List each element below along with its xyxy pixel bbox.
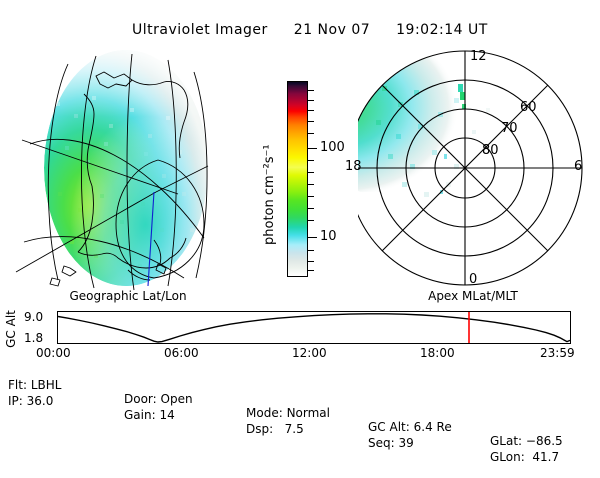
colorbar-tick [308,250,314,251]
mlt-label-18: 18 [345,160,362,173]
geographic-panel-caption: Geographic Lat/Lon [8,289,248,303]
colorbar-tick-major [308,148,317,149]
colorbar-tick [308,100,314,101]
geographic-globe-svg [8,42,248,297]
status-gcalt-label: GC Alt: [368,420,410,434]
colorbar-tick [308,261,314,262]
status-ip-label: IP: [8,394,23,408]
status-footer: Flt: LBHL Door: Open Mode: Normal GC Alt… [6,364,598,396]
status-mode-value: Normal [287,406,330,420]
status-glon-label: GLon: [490,450,525,464]
colorbar-tick [308,172,314,173]
mlat-label-80: 80 [482,144,499,157]
status-glat-value: −86.5 [526,434,563,448]
orbit-y-axis-label: GC Alt [4,306,24,352]
status-dsp: Dsp: 7.5 [246,422,304,436]
orbit-altitude-curve [58,314,570,342]
observation-date: 21 Nov 07 [294,22,370,38]
colorbar-tick [308,184,314,185]
status-glat: GLat: −86.5 [490,434,563,448]
orbit-xtick-0000: 00:00 [36,346,71,360]
status-gain: Gain: 14 [124,408,175,422]
colorbar-tick [308,160,314,161]
colorbar-tick [308,270,314,271]
orbit-xtick-0600: 06:00 [164,346,199,360]
status-ip: IP: 36.0 [8,394,53,408]
colorbar-tick [308,220,314,221]
status-glon-value: 41.7 [529,450,560,464]
colorbar-tick [308,208,314,209]
mlt-label-0: 0 [469,273,477,286]
status-gcalt: GC Alt: 6.4 Re [368,420,452,434]
mlat-label-60: 60 [520,101,537,114]
status-seq-value: 39 [399,436,414,450]
mlt-label-12: 12 [470,50,487,63]
status-glat-label: GLat: [490,434,522,448]
orbit-y-axis-text: GC Alt [4,306,18,352]
mlt-label-6: 6 [574,160,582,173]
colorbar-tick-label-10: 10 [320,230,337,243]
status-seq: Seq: 39 [368,436,414,450]
orbit-xtick-1200: 12:00 [292,346,327,360]
colorbar-tick [308,110,314,111]
orbit-xtick-2359: 23:59 [540,346,575,360]
status-gcalt-value: 6.4 Re [414,420,452,434]
status-gain-value: 14 [159,408,174,422]
status-ip-value: 36.0 [27,394,54,408]
status-row-2: IP: 36.0 Gain: 14 Dsp: 7.5 Seq: 39 GLon:… [6,380,598,396]
colorbar-tick-label-100: 100 [320,141,345,154]
orbit-ytick-high: 9.0 [24,310,43,324]
colorbar-tick [308,133,314,134]
status-gain-label: Gain: [124,408,156,422]
colorbar-tick [308,196,314,197]
mlat-label-70: 70 [501,122,518,135]
orbit-altitude-plot [57,311,571,344]
bright-pixel [444,154,447,159]
colorbar-tick [308,90,314,91]
bright-pixel [458,84,463,92]
orbit-altitude-svg [58,312,570,343]
colorbar-axis-label: photon cm⁻²s⁻¹ [262,85,282,245]
status-dsp-value: 7.5 [277,422,304,436]
colorbar-tick-major [308,237,317,238]
status-glon: GLon: 41.7 [490,450,559,464]
status-seq-label: Seq: [368,436,395,450]
colorbar-gradient [287,81,308,277]
colorbar-tick [308,121,314,122]
orbit-ytick-low: 1.8 [24,331,43,345]
geographic-globe-panel [8,42,248,297]
apex-panel-caption: Apex MLat/MLT [358,289,588,303]
status-row-1: Flt: LBHL Door: Open Mode: Normal GC Alt… [6,364,598,380]
status-dsp-label: Dsp: [246,422,273,436]
status-mode: Mode: Normal [246,406,330,420]
observation-time: 19:02:14 UT [396,22,488,38]
status-mode-label: Mode: [246,406,283,420]
apex-polar-panel: 12 18 6 0 60 70 80 [358,42,588,297]
instrument-title: Ultraviolet Imager [132,22,268,38]
bright-pixel [460,92,465,100]
apex-polar-svg [358,42,588,297]
orbit-xtick-1800: 18:00 [420,346,455,360]
